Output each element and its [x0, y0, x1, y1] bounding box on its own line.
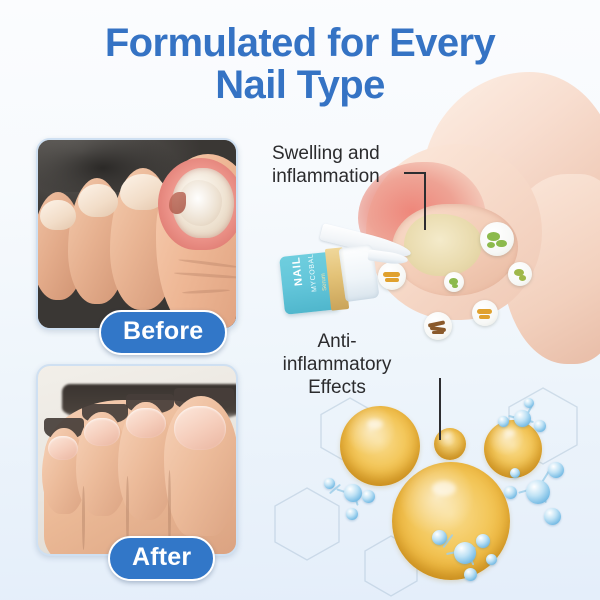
after-big-nail	[174, 406, 226, 450]
before-photo-image	[38, 140, 236, 328]
annotation-anti-inflammatory: Anti- inflammatory Effects	[262, 330, 412, 400]
leader-line-swelling-vertical	[424, 172, 426, 230]
fungus-spore-icon	[444, 272, 464, 292]
before-nail-1	[40, 200, 76, 230]
before-photo-card	[36, 138, 238, 330]
illustration-infected-nail	[404, 214, 482, 276]
advertisement-canvas: Formulated for Every Nail Type Before	[0, 0, 600, 600]
annotation-swelling: Swelling and inflammation	[272, 142, 380, 188]
molecule-icon	[322, 470, 382, 522]
product-bottle: NAIL MYCOBALS Serum	[282, 242, 402, 320]
toe-illustration	[352, 96, 600, 366]
after-badge: After	[108, 536, 215, 581]
after-nail-3	[126, 408, 166, 438]
molecule-icon	[432, 524, 506, 590]
bacteria-icon	[472, 300, 498, 326]
after-photo-image	[38, 366, 236, 554]
after-toe-gap-1	[82, 486, 85, 550]
molecule-icon	[496, 398, 560, 444]
page-title: Formulated for Every Nail Type	[0, 22, 600, 107]
page-title-line2: Nail Type	[0, 64, 600, 106]
after-nail-2	[84, 418, 120, 446]
after-nail-1	[48, 436, 78, 460]
before-nail-lesion	[169, 192, 186, 214]
leader-line-swelling-horizontal	[404, 172, 426, 174]
before-nail-2	[78, 184, 118, 217]
molecule-icon	[500, 458, 576, 530]
fungus-spore-icon	[508, 262, 532, 286]
fungus-spore-icon	[480, 222, 514, 256]
after-photo-card	[36, 364, 238, 556]
page-title-line1: Formulated for Every	[105, 21, 495, 65]
leader-line-anti-inflammatory	[439, 378, 441, 440]
bacteria-icon	[424, 312, 452, 340]
before-badge: Before	[99, 310, 227, 355]
